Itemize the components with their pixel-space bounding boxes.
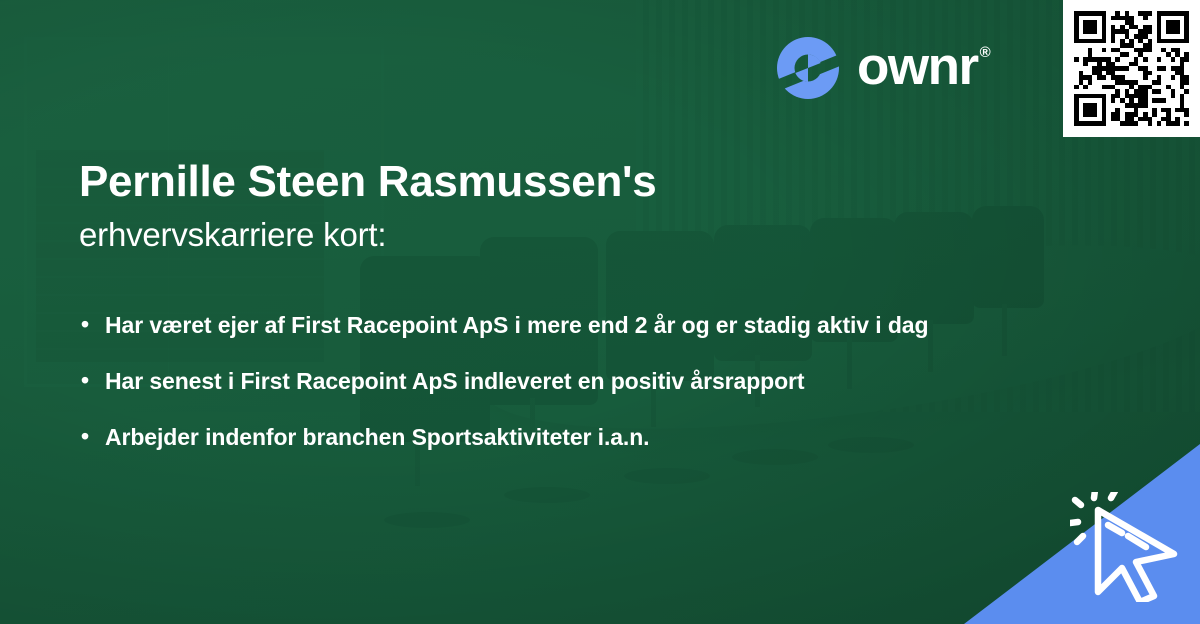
list-item: Har senest i First Racepoint ApS indleve… bbox=[79, 364, 1019, 399]
click-cursor-icon bbox=[1070, 492, 1186, 602]
list-item: Arbejder indenfor branchen Sportsaktivit… bbox=[79, 420, 1019, 455]
headline-line-2: erhvervskarriere kort: bbox=[79, 214, 979, 255]
business-card: ownr ® QR code Pernille Steen Rasmussen'… bbox=[0, 0, 1200, 624]
ownr-wordmark: ownr ® bbox=[857, 40, 989, 97]
qr-code-panel[interactable]: QR code bbox=[1063, 0, 1200, 137]
qr-code[interactable] bbox=[1074, 11, 1189, 126]
list-item: Har været ejer af First Racepoint ApS i … bbox=[79, 308, 1019, 343]
page-title: Pernille Steen Rasmussen's erhvervskarri… bbox=[79, 158, 979, 256]
ownr-wordmark-text: ownr bbox=[857, 40, 978, 93]
ownr-swirl-logo-icon bbox=[776, 36, 840, 100]
ownr-logo[interactable]: ownr ® bbox=[776, 35, 989, 101]
headline-line-1: Pernille Steen Rasmussen's bbox=[79, 158, 979, 206]
registered-mark: ® bbox=[980, 45, 990, 60]
career-facts-list: Har været ejer af First Racepoint ApS i … bbox=[79, 308, 1019, 476]
